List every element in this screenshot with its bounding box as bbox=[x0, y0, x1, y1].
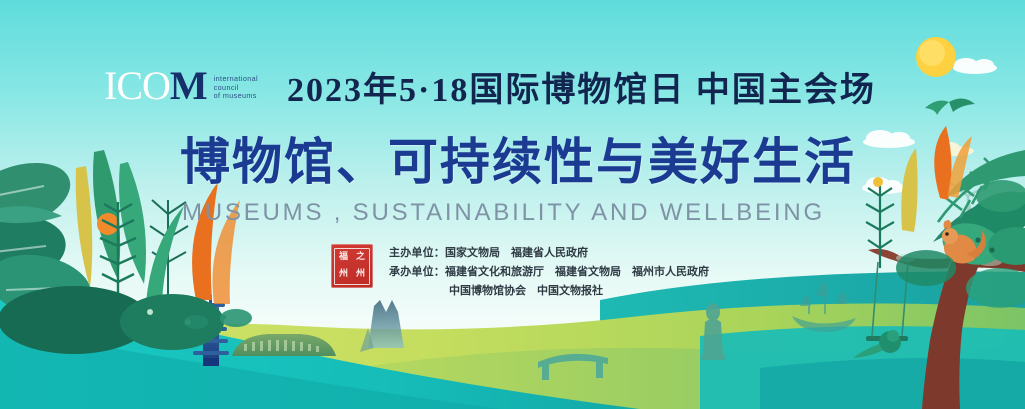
icom-logo: ICOM international council of museums bbox=[104, 66, 258, 106]
icom-wordmark: ICOM bbox=[104, 66, 207, 106]
organizers-line-2-value: 福建省文化和旅游厅 福建省文物局 福州市人民政府 bbox=[445, 265, 709, 278]
museum-day-poster: ICOM international council of museums 20… bbox=[0, 0, 1025, 409]
organizers-line-1: 主办单位：国家文物局 福建省人民政府 bbox=[389, 243, 709, 262]
seal-char-2: 之 bbox=[356, 253, 365, 262]
poster-subheadline: MUSEUMS , SUSTAINABILITY AND WELLBEING bbox=[182, 198, 872, 228]
poster-headline: 博物馆、可持续性与美好生活 bbox=[180, 133, 870, 191]
organizers-line-3: 中国博物馆协会 中国文物报社 bbox=[389, 281, 709, 300]
organizers-line-2-label: 承办单位： bbox=[389, 265, 445, 278]
organizers-line-2: 承办单位：福建省文化和旅游厅 福建省文物局 福州市人民政府 bbox=[389, 262, 709, 281]
organizers-line-1-label: 主办单位： bbox=[389, 246, 445, 259]
icom-m-letter: M bbox=[170, 63, 207, 108]
seal-char-3: 州 bbox=[339, 270, 348, 279]
organizers-block: 主办单位：国家文物局 福建省人民政府 承办单位：福建省文化和旅游厅 福建省文物局… bbox=[389, 243, 709, 300]
icom-subtitle-line3: of museums bbox=[214, 92, 258, 101]
organizers-line-1-value: 国家文物局 福建省人民政府 bbox=[445, 246, 588, 259]
seal-char-1: 福 bbox=[339, 253, 348, 262]
icom-ico-letters: ICO bbox=[104, 63, 170, 108]
cloud-icon bbox=[953, 58, 997, 74]
seal-characters: 福 之 州 州 bbox=[334, 248, 370, 285]
organizers-line-3-value: 中国博物馆协会 中国文物报社 bbox=[449, 284, 603, 297]
icom-subtitle: international council of museums bbox=[214, 71, 258, 101]
red-square-seal: 福 之 州 州 bbox=[331, 244, 373, 288]
seal-char-4: 州 bbox=[356, 270, 365, 279]
event-kicker: 2023年5·18国际博物馆日 中国主会场 bbox=[287, 71, 917, 111]
